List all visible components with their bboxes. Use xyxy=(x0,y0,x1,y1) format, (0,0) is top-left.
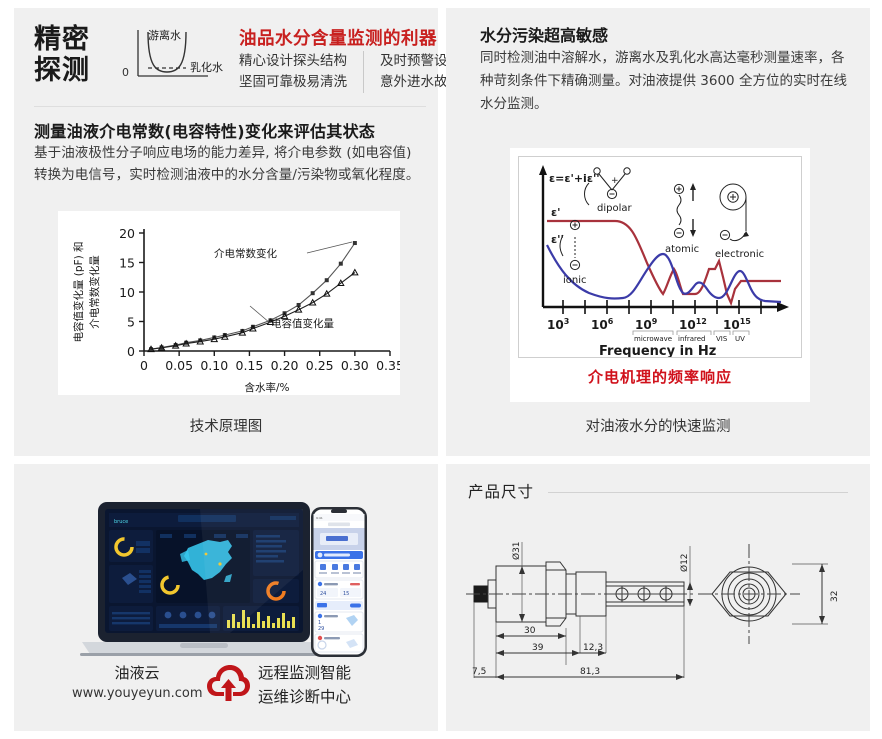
svg-text:0.35: 0.35 xyxy=(376,358,400,373)
svg-text:0: 0 xyxy=(140,358,148,373)
phone-app: 9:41 24 15 xyxy=(310,506,368,658)
dim-32: 32 xyxy=(830,591,840,602)
svg-text:5: 5 xyxy=(127,315,135,330)
section-heading: 测量油液介电常数(电容特性)变化来评估其状态 xyxy=(34,118,375,142)
feature-item: 坚固可靠极易清洗 xyxy=(239,72,347,93)
feature-item: 精心设计探头结构 xyxy=(239,51,347,72)
dielectric-xlabel: Frequency in Hz xyxy=(599,344,716,357)
atomic-label: atomic xyxy=(665,244,699,255)
dielectric-ylabel: ε=ε'+iε'' xyxy=(549,172,600,185)
svg-text:介电常数变化量: 介电常数变化量 xyxy=(88,255,101,329)
moisture-heading: 水分污染超高敏感 xyxy=(480,22,608,46)
free-water-label: 游离水 xyxy=(148,27,181,43)
dim-30: 30 xyxy=(524,626,536,636)
svg-text:+: + xyxy=(611,176,619,186)
feature-column-1: 精心设计探头结构 坚固可靠极易清洗 xyxy=(239,51,347,93)
band-microwave: microwave xyxy=(634,335,672,343)
svg-text:9:41: 9:41 xyxy=(316,516,323,520)
moisture-paragraph: 同时检测油中溶解水，游离水及乳化水高达毫秒测量速率，各种苛刻条件下精确测量。对油… xyxy=(480,47,852,116)
ionic-label: ionic xyxy=(563,275,587,286)
svg-text:0: 0 xyxy=(127,344,135,359)
svg-text:含水率/%: 含水率/% xyxy=(244,381,289,394)
band-uv: UV xyxy=(735,335,745,343)
remote-line-1: 远程监测智能 xyxy=(258,661,351,685)
svg-text:0.30: 0.30 xyxy=(341,358,369,373)
product-infographic-page: 精密探测 0 游离水 乳化水 油品水分含量监测的利器 精心设计探头结构 坚固可靠… xyxy=(0,0,882,739)
svg-text:0.10: 0.10 xyxy=(200,358,228,373)
dipolar-label: dipolar xyxy=(597,203,632,214)
svg-text:0.20: 0.20 xyxy=(271,358,299,373)
dielectric-figure-title: 介电机理的频率响应 xyxy=(510,366,810,387)
product-dimensions-heading: 产品尺寸 xyxy=(468,480,534,502)
dim-75: 7,5 xyxy=(472,667,486,677)
dim-39: 39 xyxy=(532,643,544,653)
svg-text:介电常数变化: 介电常数变化 xyxy=(214,247,277,260)
axis-origin-label: 0 xyxy=(122,66,129,79)
electronic-label: electronic xyxy=(715,249,764,260)
cloud-upload-icon xyxy=(205,662,251,704)
dielectric-plot: ε=ε'+iε'' ε' ε'' + dipolar xyxy=(518,156,802,358)
band-vis: VIS xyxy=(716,335,728,343)
brand-url-text[interactable]: www.youyeyun.com xyxy=(72,684,202,703)
band-infrared: infrared xyxy=(678,335,706,343)
dim-813: 81,3 xyxy=(580,667,600,677)
dim-123: 12,3 xyxy=(583,643,603,653)
svg-text:电容值变化量: 电容值变化量 xyxy=(271,317,334,330)
brand-cloud-name: 油液云 www.youyeyun.com xyxy=(72,662,202,703)
svg-text:bruce: bruce xyxy=(114,519,128,525)
brand-title: 精密探测 xyxy=(34,24,104,86)
water-state-diagram: 0 游离水 乳化水 xyxy=(122,26,230,88)
emulsified-water-label: 乳化水 xyxy=(190,59,223,75)
xtick-1: 103 xyxy=(547,317,569,332)
feature-columns: 精心设计探头结构 坚固可靠极易清洗 及时预警设备 意外进水故障 xyxy=(239,51,461,93)
svg-text:0.15: 0.15 xyxy=(236,358,264,373)
xtick-3: 109 xyxy=(635,317,658,332)
section-paragraph: 基于油液极性分子响应电场的能力差异, 将介电参数 (如电容值) 转换为电信号，实… xyxy=(34,142,426,186)
dim-d12: Ø12 xyxy=(679,553,690,572)
dielectric-figure-card: ε=ε'+iε'' ε' ε'' + dipolar xyxy=(510,148,810,402)
heading-rule xyxy=(548,492,848,493)
xtick-2: 106 xyxy=(591,317,614,332)
headline-red: 油品水分含量监测的利器 xyxy=(239,25,437,50)
capacitance-chart: 0510152000.050.100.150.200.250.300.35介电常… xyxy=(58,211,400,395)
svg-text:15: 15 xyxy=(343,591,349,597)
svg-text:20: 20 xyxy=(119,226,135,241)
xtick-5: 1015 xyxy=(723,317,751,332)
capacitance-chart-card: 0510152000.050.100.150.200.250.300.35介电常… xyxy=(58,211,400,395)
eps-imag-label: ε'' xyxy=(551,233,564,246)
panel-technical-principle: 精密探测 0 游离水 乳化水 油品水分含量监测的利器 精心设计探头结构 坚固可靠… xyxy=(14,8,438,456)
caption-moisture-monitoring: 对油液水分的快速监测 xyxy=(446,415,870,436)
svg-text:29: 29 xyxy=(318,626,324,632)
dimension-drawing: Ø31 Ø12 30 39 12,3 81,3 7,5 32 xyxy=(462,520,866,724)
svg-text:24: 24 xyxy=(320,591,326,597)
laptop-dashboard: bruce xyxy=(80,500,340,664)
svg-text:15: 15 xyxy=(119,256,135,271)
xtick-4: 1012 xyxy=(679,317,707,332)
eps-real-label: ε' xyxy=(551,206,561,219)
caption-technical-principle: 技术原理图 xyxy=(14,415,438,436)
svg-text:0.05: 0.05 xyxy=(165,358,193,373)
remote-line-2: 运维诊断中心 xyxy=(258,685,351,709)
dim-d31: Ø31 xyxy=(511,541,522,560)
svg-text:10: 10 xyxy=(119,285,135,300)
precision-detection-header: 精密探测 0 游离水 乳化水 油品水分含量监测的利器 精心设计探头结构 坚固可靠… xyxy=(34,20,424,98)
remote-monitoring-text: 远程监测智能 运维诊断中心 xyxy=(258,661,351,709)
svg-text:电容值变化量 (pF) 和: 电容值变化量 (pF) 和 xyxy=(72,241,85,342)
divider xyxy=(34,106,426,107)
svg-text:0.25: 0.25 xyxy=(306,358,334,373)
brand-name-text: 油液云 xyxy=(72,662,202,684)
